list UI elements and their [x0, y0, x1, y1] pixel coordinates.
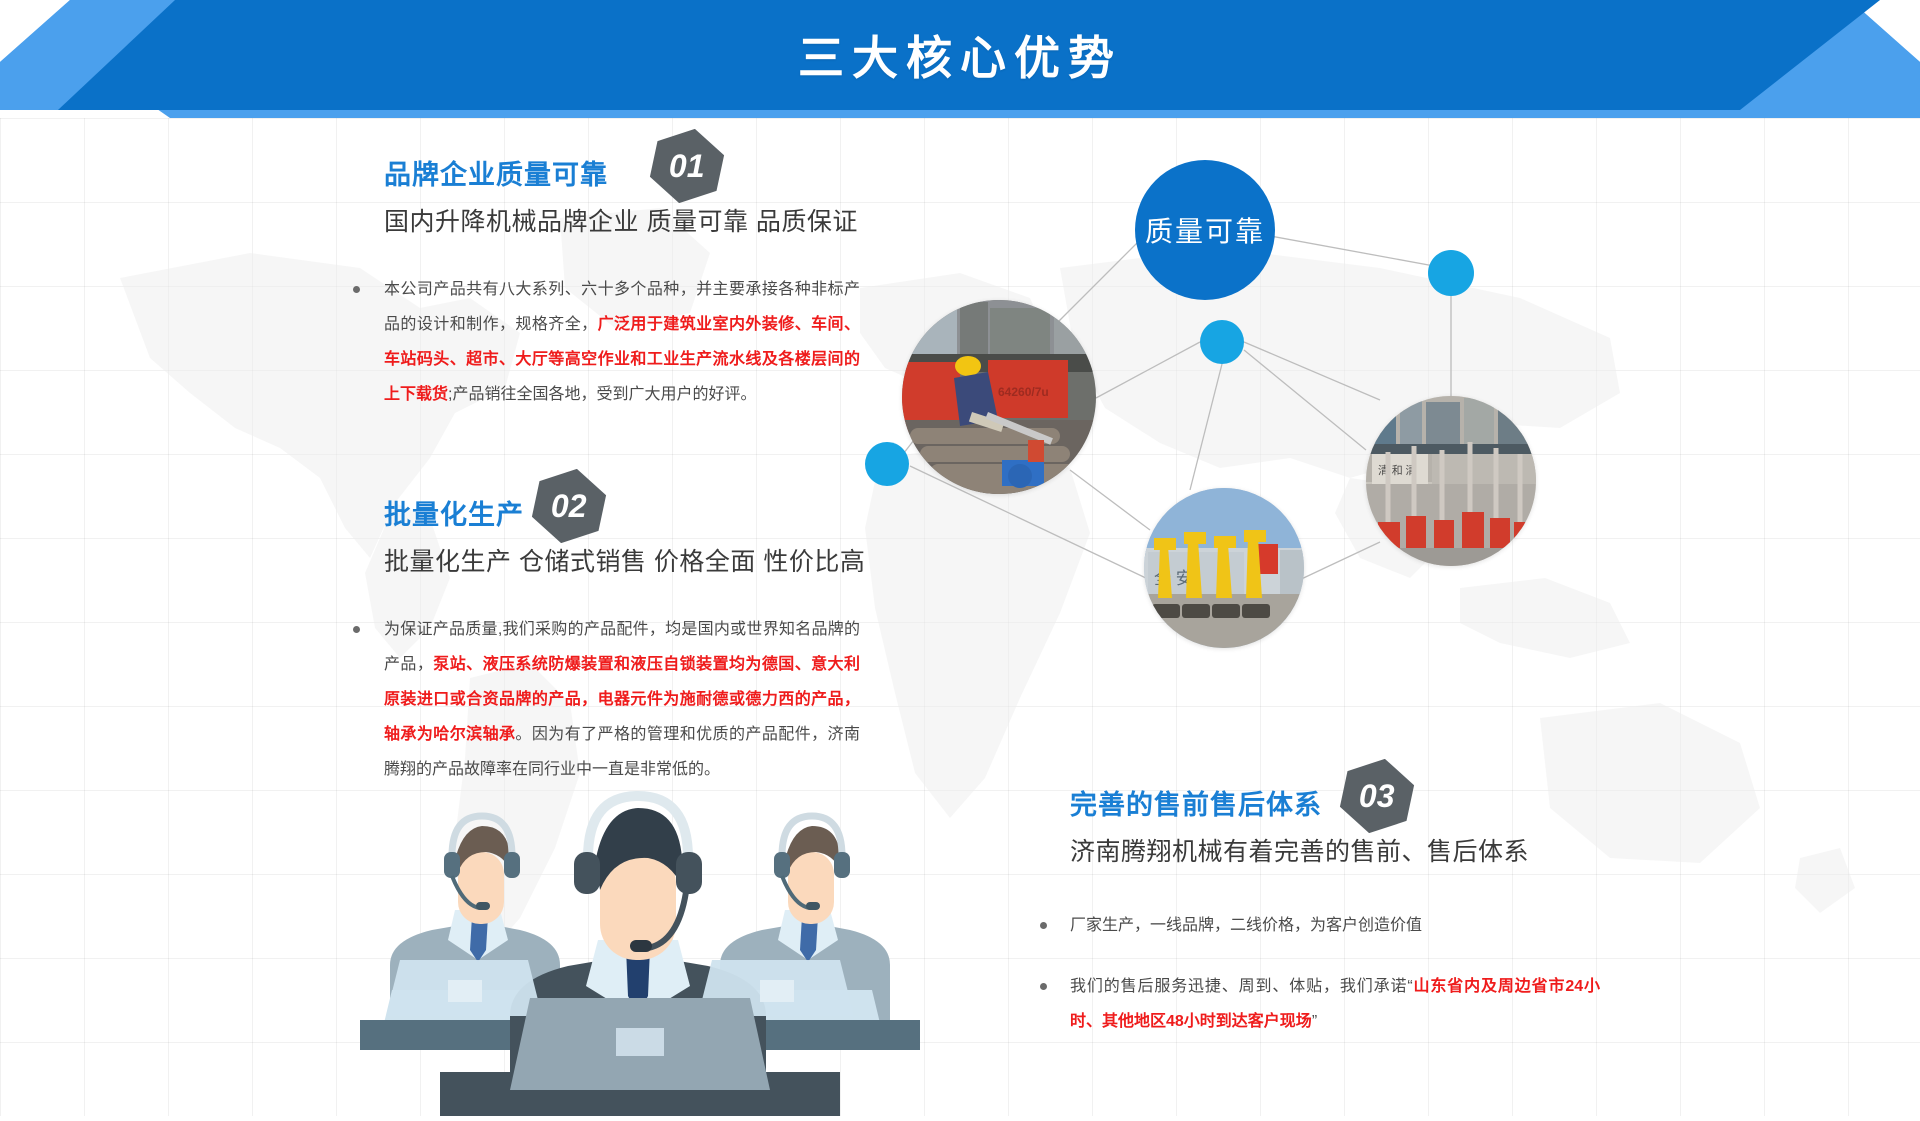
network-infographic: 64260/7u — [880, 150, 1580, 670]
photo-street-lifts: 清 和 清 — [1366, 396, 1536, 566]
photo-yard-lifts-art: 全 安 — [1144, 488, 1304, 648]
bullet-item: 为保证产品质量,我们采购的产品配件，均是国内或世界知名品牌的产品，泵站、液压系统… — [300, 612, 860, 787]
feature-01-bullets: 本公司产品共有八大系列、六十多个品种，并主要承接各种非标产品的设计和制作，规格齐… — [300, 272, 860, 412]
body-text: ” — [1312, 1013, 1317, 1030]
svg-text:64260/7u: 64260/7u — [998, 385, 1049, 399]
feature-block-02: 02 批量化生产 批量化生产 仓储式销售 价格全面 性价比高 为保证产品质量,我… — [300, 480, 860, 813]
feature-block-01: 01 品牌企业质量可靠 国内升降机械品牌企业 质量可靠 品质保证 本公司产品共有… — [300, 140, 860, 438]
feature-02-head: 02 批量化生产 — [300, 480, 860, 536]
photo-factory-worker: 64260/7u — [902, 300, 1096, 494]
feature-03-subtitle: 济南腾翔机械有着完善的售前、售后体系 — [1070, 832, 1600, 868]
call-center-art — [360, 790, 920, 1116]
feature-01-number: 01 — [669, 148, 705, 185]
feature-03-title: 完善的售前售后体系 — [1070, 783, 1322, 822]
feature-block-03: 03 完善的售前售后体系 济南腾翔机械有着完善的售前、售后体系 厂家生产，一线品… — [1040, 770, 1600, 1065]
page-header-banner: 三大核心优势 — [0, 0, 1920, 118]
quality-bubble-label: 质量可靠 — [1145, 210, 1265, 250]
feature-01-head: 01 品牌企业质量可靠 — [300, 140, 860, 196]
body-text: 厂家生产，一线品牌，二线价格，为客户创造价值 — [1070, 917, 1422, 934]
photo-street-lifts-art: 清 和 清 — [1366, 396, 1536, 566]
quality-bubble: 质量可靠 — [1135, 160, 1275, 300]
feature-02-title: 批量化生产 — [384, 493, 524, 532]
photo-factory-worker-art: 64260/7u — [902, 300, 1096, 494]
network-node-left — [865, 442, 909, 486]
body-text: 我们的售后服务迅捷、周到、体贴，我们承诺“ — [1070, 978, 1413, 995]
feature-03-number: 03 — [1359, 778, 1395, 815]
feature-01-title: 品牌企业质量可靠 — [384, 153, 608, 192]
feature-02-number: 02 — [551, 488, 587, 525]
feature-02-subtitle: 批量化生产 仓储式销售 价格全面 性价比高 — [384, 542, 860, 578]
bullet-item: 我们的售后服务迅捷、周到、体贴，我们承诺“山东省内及周边省市24小时、其他地区4… — [1040, 969, 1600, 1039]
page-title: 三大核心优势 — [0, 0, 1920, 110]
feature-02-bullets: 为保证产品质量,我们采购的产品配件，均是国内或世界知名品牌的产品，泵站、液压系统… — [300, 612, 860, 787]
feature-03-bullets: 厂家生产，一线品牌，二线价格，为客户创造价值 我们的售后服务迅捷、周到、体贴，我… — [1040, 908, 1600, 1039]
network-node-center — [1200, 320, 1244, 364]
call-center-illustration — [360, 790, 920, 1116]
bullet-item: 厂家生产，一线品牌，二线价格，为客户创造价值 — [1040, 908, 1600, 943]
feature-01-subtitle: 国内升降机械品牌企业 质量可靠 品质保证 — [384, 202, 860, 238]
network-node-right — [1428, 250, 1474, 296]
svg-text:清 和 清: 清 和 清 — [1378, 464, 1417, 477]
feature-03-head: 03 完善的售前售后体系 — [1040, 770, 1600, 826]
bullet-item: 本公司产品共有八大系列、六十多个品种，并主要承接各种非标产品的设计和制作，规格齐… — [300, 272, 860, 412]
photo-yard-lifts: 全 安 — [1144, 488, 1304, 648]
body-text: ;产品销往全国各地，受到广大用户的好评。 — [448, 386, 756, 403]
